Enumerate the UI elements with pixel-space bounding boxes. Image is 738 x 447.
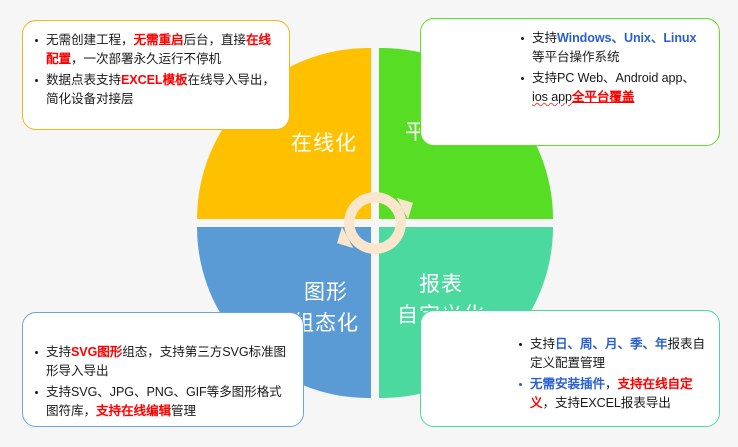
list-item: 无需安装插件，支持在线自定义，支持EXCEL报表导出 bbox=[517, 375, 707, 413]
text-run: 支持 bbox=[46, 345, 71, 359]
feature-list-graphics: 支持SVG图形组态，支持第三方SVG标准图形导入导出 支持SVG、JPG、PNG… bbox=[33, 323, 291, 421]
text-run: 日、周、月、季、年 bbox=[555, 337, 667, 351]
text-run: EXCEL模板 bbox=[121, 73, 187, 87]
text-run: ， bbox=[605, 377, 618, 391]
text-run: 全平台覆盖 bbox=[572, 90, 634, 104]
callout-box-cross-platform: 支持Windows、Unix、Linux等平台操作系统 支持PC Web、And… bbox=[420, 18, 720, 146]
text-run: 支持PC Web、Android app、 bbox=[532, 71, 695, 85]
infographic-canvas: 无需创建工程，无需重启后台，直接在线配置，一次部署永久运行不停机 数据点表支持E… bbox=[0, 0, 738, 447]
text-run: ，一次部署永久运行不停机 bbox=[71, 52, 221, 66]
text-run: ios app bbox=[532, 90, 572, 104]
callout-box-online: 无需创建工程，无需重启后台，直接在线配置，一次部署永久运行不停机 数据点表支持E… bbox=[22, 20, 290, 130]
text-run: ，支持EXCEL报表导出 bbox=[543, 396, 671, 410]
text-run: 等平台操作系统 bbox=[532, 50, 619, 64]
text-run: 支持 bbox=[530, 337, 555, 351]
callout-box-report: 支持日、周、月、季、年报表自定义配置管理 无需安装插件，支持在线自定义，支持EX… bbox=[420, 310, 720, 427]
list-item: 支持SVG、JPG、PNG、GIF等多图形格式图符库，支持在线编辑管理 bbox=[33, 383, 291, 421]
text-run: 无需重启 bbox=[133, 33, 183, 47]
list-item: 支持日、周、月、季、年报表自定义配置管理 bbox=[517, 335, 707, 373]
list-item: 支持SVG图形组态，支持第三方SVG标准图形导入导出 bbox=[33, 343, 291, 381]
text-run: SVG图形 bbox=[71, 345, 122, 359]
list-item: 支持PC Web、Android app、ios app全平台覆盖 bbox=[519, 69, 707, 107]
text-run: Windows、Unix、Linux bbox=[557, 31, 696, 45]
text-run: 数据点表支持 bbox=[46, 73, 121, 87]
quadrant-label: 在线化 bbox=[291, 128, 357, 159]
callout-box-graphics: 支持SVG图形组态，支持第三方SVG标准图形导入导出 支持SVG、JPG、PNG… bbox=[22, 312, 304, 427]
text-run: 管理 bbox=[171, 404, 196, 418]
list-item: 数据点表支持EXCEL模板在线导入导出，简化设备对接层 bbox=[33, 71, 277, 109]
text-run: 支持在线编辑 bbox=[96, 404, 171, 418]
text-run: 无需安装插件 bbox=[530, 377, 605, 391]
list-item: 无需创建工程，无需重启后台，直接在线配置，一次部署永久运行不停机 bbox=[33, 31, 277, 69]
list-item: 支持Windows、Unix、Linux等平台操作系统 bbox=[519, 29, 707, 67]
text-run: 后台，直接 bbox=[183, 33, 245, 47]
feature-list-cross-platform: 支持Windows、Unix、Linux等平台操作系统 支持PC Web、And… bbox=[431, 29, 707, 107]
text-run: 无需创建工程， bbox=[46, 33, 133, 47]
feature-list-online: 无需创建工程，无需重启后台，直接在线配置，一次部署永久运行不停机 数据点表支持E… bbox=[33, 31, 277, 109]
text-run: 支持 bbox=[532, 31, 557, 45]
feature-list-report: 支持日、周、月、季、年报表自定义配置管理 无需安装插件，支持在线自定义，支持EX… bbox=[431, 321, 707, 413]
